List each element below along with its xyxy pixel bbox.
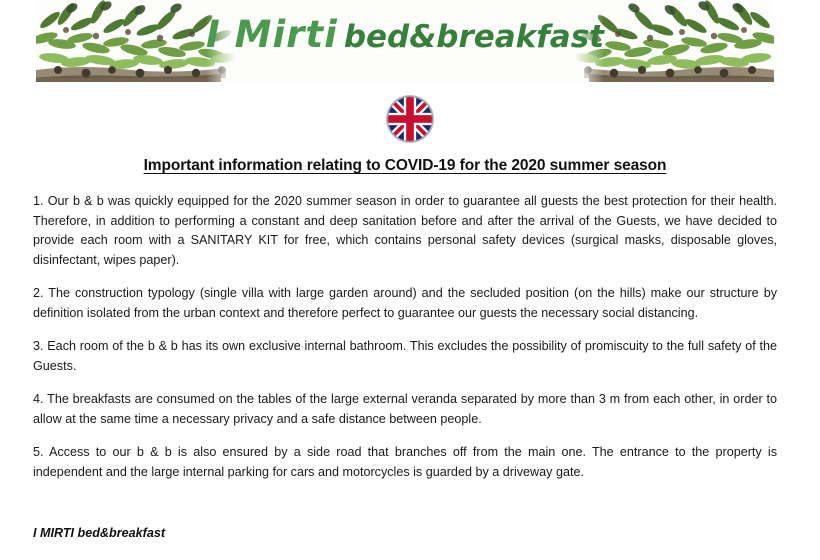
brand-logo-text: I Mirtibed&breakfast: [36, 16, 774, 53]
paragraph-2: 2. The construction typology (single vil…: [33, 284, 777, 323]
language-flag-container: [0, 96, 820, 142]
paragraph-4: 4. The breakfasts are consumed on the ta…: [33, 390, 777, 429]
signature-line: I MIRTI bed&breakfast: [33, 526, 165, 540]
document-body: 1. Our b & b was quickly equipped for th…: [33, 192, 777, 482]
header-banner: I Mirtibed&breakfast: [36, 0, 774, 82]
document-page: I Mirtibed&breakfast: [0, 0, 820, 560]
united-kingdom-flag-icon: [387, 96, 433, 142]
brand-name-primary: I Mirti: [206, 13, 338, 56]
brand-name-secondary: bed&breakfast: [344, 19, 604, 55]
paragraph-5: 5. Access to our b & b is also ensured b…: [33, 443, 777, 482]
paragraph-3: 3. Each room of the b & b has its own ex…: [33, 337, 777, 376]
paragraph-1: 1. Our b & b was quickly equipped for th…: [33, 192, 777, 270]
page-title: Important information relating to COVID-…: [33, 157, 777, 175]
